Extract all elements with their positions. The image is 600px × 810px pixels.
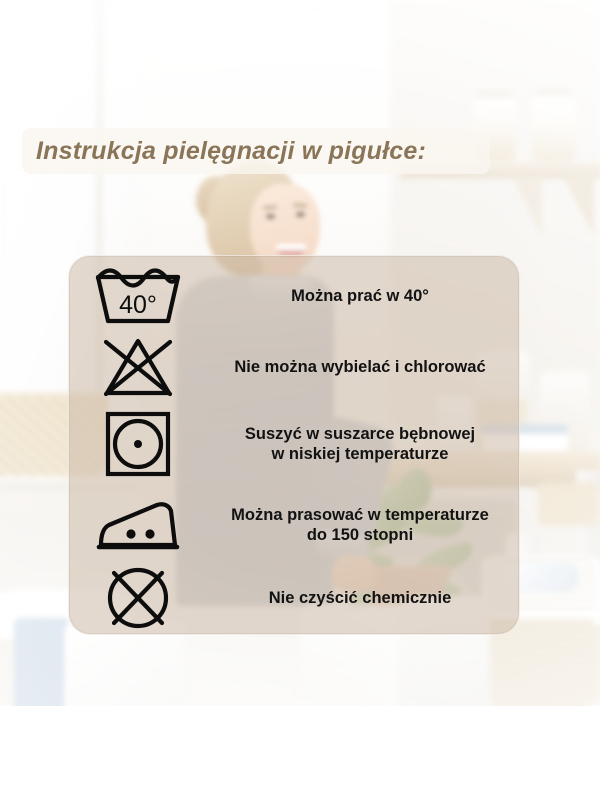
tumble-dry-low-icon bbox=[69, 410, 207, 478]
care-row: 40° Można prać w 40° bbox=[69, 258, 519, 334]
care-row-text: Można prać w 40° bbox=[207, 286, 519, 306]
title-bar: Instrukcja pielęgnacji w pigułce: bbox=[22, 128, 490, 174]
care-text-line1: Można prasować w temperaturze bbox=[231, 506, 489, 524]
care-text-line1: Nie czyścić chemicznie bbox=[269, 589, 452, 607]
care-text-line2: w niskiej temperaturze bbox=[207, 444, 513, 464]
care-text-line1: Można prać w 40° bbox=[291, 287, 429, 305]
iron-two-dots-icon bbox=[69, 497, 207, 553]
care-row: Można prasować w temperaturze do 150 sto… bbox=[69, 486, 519, 564]
care-instructions-infographic: Instrukcja pielęgnacji w pigułce: 40° Mo… bbox=[0, 0, 600, 810]
care-symbols-panel: 40° Można prać w 40° Nie można wybielać … bbox=[68, 255, 520, 635]
care-row-text: Można prasować w temperaturze do 150 sto… bbox=[207, 505, 519, 545]
care-text-line1: Suszyć w suszarce bębnowej bbox=[245, 425, 475, 443]
care-row-text: Suszyć w suszarce bębnowej w niskiej tem… bbox=[207, 424, 519, 464]
care-text-line1: Nie można wybielać i chlorować bbox=[234, 358, 485, 376]
no-dry-clean-icon bbox=[69, 564, 207, 632]
no-bleach-triangle-icon bbox=[69, 336, 207, 398]
care-row-text: Nie czyścić chemicznie bbox=[207, 588, 519, 608]
wash-temp-label: 40° bbox=[119, 291, 157, 319]
wash-tub-40-icon: 40° bbox=[69, 267, 207, 325]
page-title: Instrukcja pielęgnacji w pigułce: bbox=[36, 137, 426, 166]
care-row: Nie można wybielać i chlorować bbox=[69, 332, 519, 402]
care-row: Nie czyścić chemicznie bbox=[69, 562, 519, 634]
care-text-line2: do 150 stopni bbox=[207, 525, 513, 545]
care-row: Suszyć w suszarce bębnowej w niskiej tem… bbox=[69, 402, 519, 486]
care-row-text: Nie można wybielać i chlorować bbox=[207, 357, 519, 377]
